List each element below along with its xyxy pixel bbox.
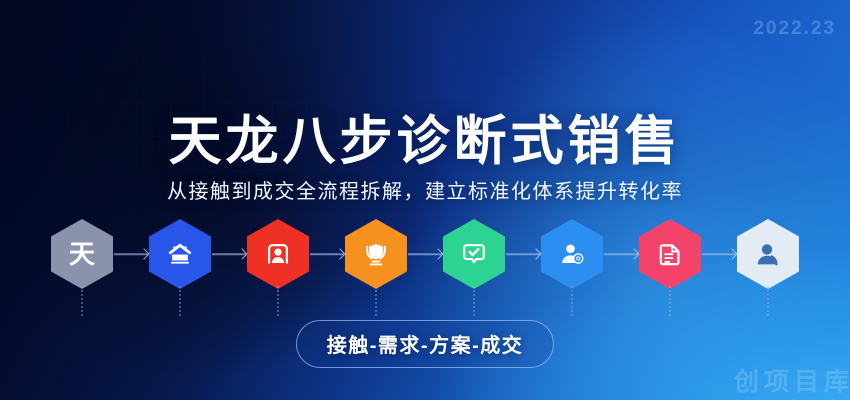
- step-node-2: [149, 219, 211, 289]
- step-node-7: [639, 219, 701, 289]
- step-node-1: 天: [51, 219, 113, 289]
- step-node-6: [541, 219, 603, 289]
- step-arrow-2: [212, 248, 246, 260]
- person-frame-icon: [247, 219, 309, 289]
- step-chain: 天: [0, 216, 850, 292]
- step-label-1: 天: [69, 241, 95, 267]
- page-title: 天龙八步诊断式销售: [0, 114, 850, 170]
- step-arrow-3: [310, 248, 344, 260]
- step-node-5: [443, 219, 505, 289]
- trophy-shield-icon: [345, 219, 407, 289]
- step-node-4: [345, 219, 407, 289]
- chat-check-icon: [443, 219, 505, 289]
- house-icon: [149, 219, 211, 289]
- user-badge-icon: [541, 219, 603, 289]
- step-arrow-5: [506, 248, 540, 260]
- step-arrow-6: [604, 248, 638, 260]
- step-node-3: [247, 219, 309, 289]
- step-node-8: [737, 219, 799, 289]
- step-arrow-1: [114, 248, 148, 260]
- step-arrow-4: [408, 248, 442, 260]
- chinese-character-tian-icon: 天: [51, 219, 113, 289]
- document-icon: [639, 219, 701, 289]
- summary-pill-wrapper: 接触-需求-方案-成交: [0, 320, 850, 368]
- step-arrow-7: [702, 248, 736, 260]
- user-icon: [737, 219, 799, 289]
- watermark-top-right: 2022.23: [753, 18, 836, 40]
- banner-root: 2022.23 创项目库 天龙八步诊断式销售 从接触到成交全流程拆解，建立标准化…: [0, 0, 850, 400]
- page-subtitle: 从接触到成交全流程拆解，建立标准化体系提升转化率: [0, 179, 850, 206]
- summary-pill: 接触-需求-方案-成交: [296, 320, 554, 368]
